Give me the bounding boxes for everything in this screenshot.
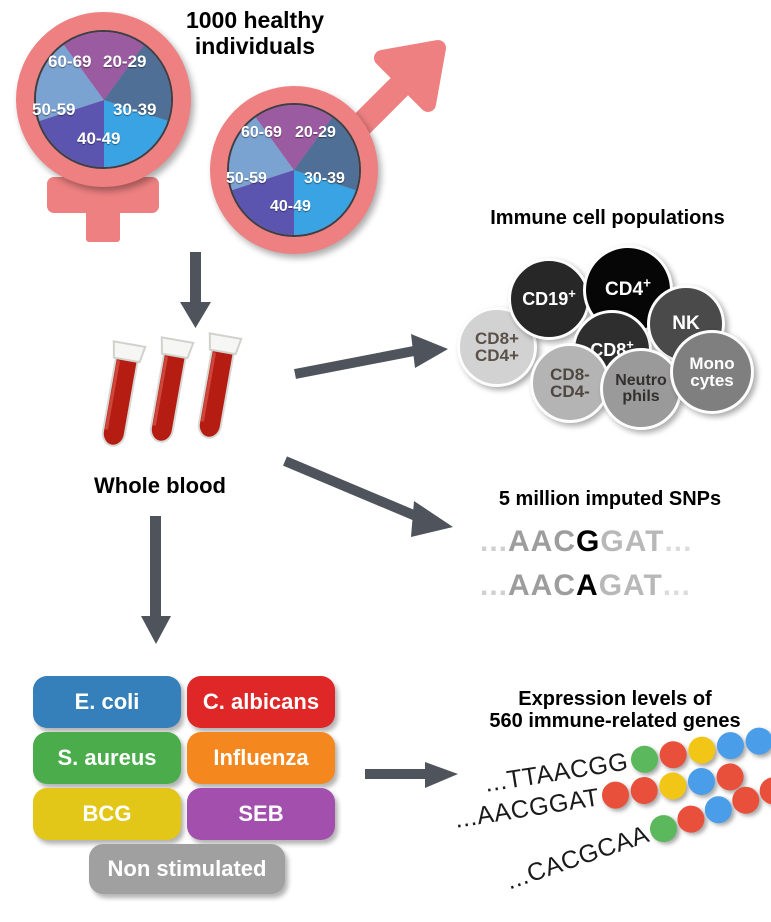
male-gender-symbol: 20-29 30-39 40-49 50-59 60-69 bbox=[210, 62, 445, 257]
male-pie-label-40-49: 40-49 bbox=[270, 198, 311, 216]
expression-title-line2: 560 immune-related genes bbox=[465, 710, 765, 732]
expression-bead bbox=[658, 771, 689, 802]
stimulus-e-coli[interactable]: E. coli bbox=[33, 676, 181, 728]
stimuli-panel: E. coli C. albicans S. aureus Influenza … bbox=[33, 676, 333, 891]
female-pie-label-20-29: 20-29 bbox=[103, 52, 146, 72]
snps-title: 5 million imputed SNPs bbox=[460, 488, 760, 510]
immune-bubble-cd8-cd4-neg: CD8- CD4- bbox=[530, 343, 610, 423]
arrow-blood-to-stimuli bbox=[139, 516, 173, 646]
female-pie-label-60-69: 60-69 bbox=[48, 52, 91, 72]
expression-bead bbox=[674, 802, 708, 836]
expression-bead bbox=[715, 730, 746, 761]
whole-blood-label: Whole blood bbox=[70, 474, 250, 499]
bubble-label-line1: CD8- bbox=[550, 366, 590, 383]
expression-bead bbox=[686, 735, 717, 766]
bubble-label-line1: Neutro bbox=[615, 373, 667, 389]
expression-bead bbox=[600, 780, 631, 811]
snp-suffix: ... bbox=[663, 569, 691, 603]
immune-bubble-neutrophils: Neutro phils bbox=[600, 348, 682, 430]
arrow-cohort-to-blood bbox=[178, 252, 214, 330]
bubble-label-line1: Mono bbox=[689, 355, 734, 372]
male-pie-label-20-29: 20-29 bbox=[295, 124, 336, 142]
female-pie-label-50-59: 50-59 bbox=[32, 100, 75, 120]
bubble-label-line2: cytes bbox=[689, 372, 734, 389]
female-pie-label-40-49: 40-49 bbox=[77, 129, 120, 149]
expression-bead bbox=[702, 792, 736, 826]
female-pie-label-30-39: 30-39 bbox=[113, 100, 156, 120]
arrow-blood-to-immune-cells bbox=[293, 330, 453, 380]
bubble-superscript: + bbox=[643, 276, 651, 291]
arrow-blood-to-snps bbox=[283, 455, 458, 545]
bubble-label: CD4 bbox=[605, 279, 643, 300]
snp-right: GAT bbox=[600, 525, 664, 559]
stimulus-non-stimulated[interactable]: Non stimulated bbox=[89, 844, 285, 894]
stimulus-label: Non stimulated bbox=[108, 856, 267, 882]
expression-bead bbox=[686, 766, 717, 797]
expression-bead bbox=[647, 811, 681, 845]
stimulus-seb[interactable]: SEB bbox=[187, 788, 335, 840]
immune-bubble-monocytes: Mono cytes bbox=[670, 330, 754, 414]
arrow-stimuli-to-expression bbox=[365, 760, 460, 792]
stimulus-label: SEB bbox=[238, 801, 283, 827]
immune-cells-title: Immune cell populations bbox=[455, 207, 760, 229]
stimulus-label: E. coli bbox=[75, 689, 140, 715]
snp-suffix: ... bbox=[664, 525, 692, 559]
snp-prefix: ... bbox=[480, 569, 508, 603]
snp-right: GAT bbox=[599, 569, 663, 603]
snp-sequences: ...AACGGAT... ...AACAGAT... bbox=[480, 525, 750, 615]
expression-bead bbox=[629, 744, 660, 775]
bubble-label-line2: phils bbox=[615, 389, 667, 405]
stimulus-influenza[interactable]: Influenza bbox=[187, 732, 335, 784]
bubble-superscript: + bbox=[568, 286, 576, 301]
gene-sequence: ...CACGCAA bbox=[502, 820, 653, 896]
male-pie-label-50-59: 50-59 bbox=[226, 170, 267, 188]
stimulus-label: C. albicans bbox=[203, 689, 319, 715]
bubble-label: CD19 bbox=[522, 289, 568, 309]
snp-sequence-row: ...AACGGAT... bbox=[480, 525, 692, 559]
expression-bead bbox=[629, 775, 660, 806]
snp-variant: G bbox=[576, 525, 600, 559]
snp-sequence-row: ...AACAGAT... bbox=[480, 569, 691, 603]
expression-title: Expression levels of 560 immune-related … bbox=[465, 688, 765, 733]
stimulus-label: Influenza bbox=[213, 745, 308, 771]
expression-bead bbox=[729, 783, 763, 817]
figure-canvas: 1000 healthy individuals 20-29 30-39 40-… bbox=[0, 0, 771, 922]
male-pie-label-60-69: 60-69 bbox=[241, 124, 282, 142]
stimulus-s-aureus[interactable]: S. aureus bbox=[33, 732, 181, 784]
bubble-label-line1: CD8+ bbox=[475, 330, 519, 347]
female-gender-symbol: 20-29 30-39 40-49 50-59 60-69 bbox=[10, 12, 205, 242]
expression-bead bbox=[743, 726, 771, 757]
snp-left: AAC bbox=[508, 525, 576, 559]
gene-strands: ...TTAACGG ...AACGGAT ...CACGCAA bbox=[455, 740, 771, 910]
bubble-label: NK bbox=[672, 314, 699, 333]
expression-bead bbox=[658, 739, 689, 770]
bubble-label-line2: CD4- bbox=[550, 383, 590, 400]
whole-blood-tubes bbox=[100, 330, 280, 455]
snp-left: AAC bbox=[508, 569, 576, 603]
snp-prefix: ... bbox=[480, 525, 508, 559]
stimulus-label: BCG bbox=[83, 801, 132, 827]
snp-variant: A bbox=[576, 569, 599, 603]
stimulus-label: S. aureus bbox=[57, 745, 156, 771]
bubble-label-line2: CD4+ bbox=[475, 347, 519, 364]
expression-title-line1: Expression levels of bbox=[465, 688, 765, 710]
male-pie-label-30-39: 30-39 bbox=[304, 170, 345, 188]
stimulus-c-albicans[interactable]: C. albicans bbox=[187, 676, 335, 728]
immune-cells-cluster: CD8+ CD4+ CD19+ CD4+ CD8+ NK CD8- CD4- N… bbox=[455, 245, 765, 405]
stimulus-bcg[interactable]: BCG bbox=[33, 788, 181, 840]
